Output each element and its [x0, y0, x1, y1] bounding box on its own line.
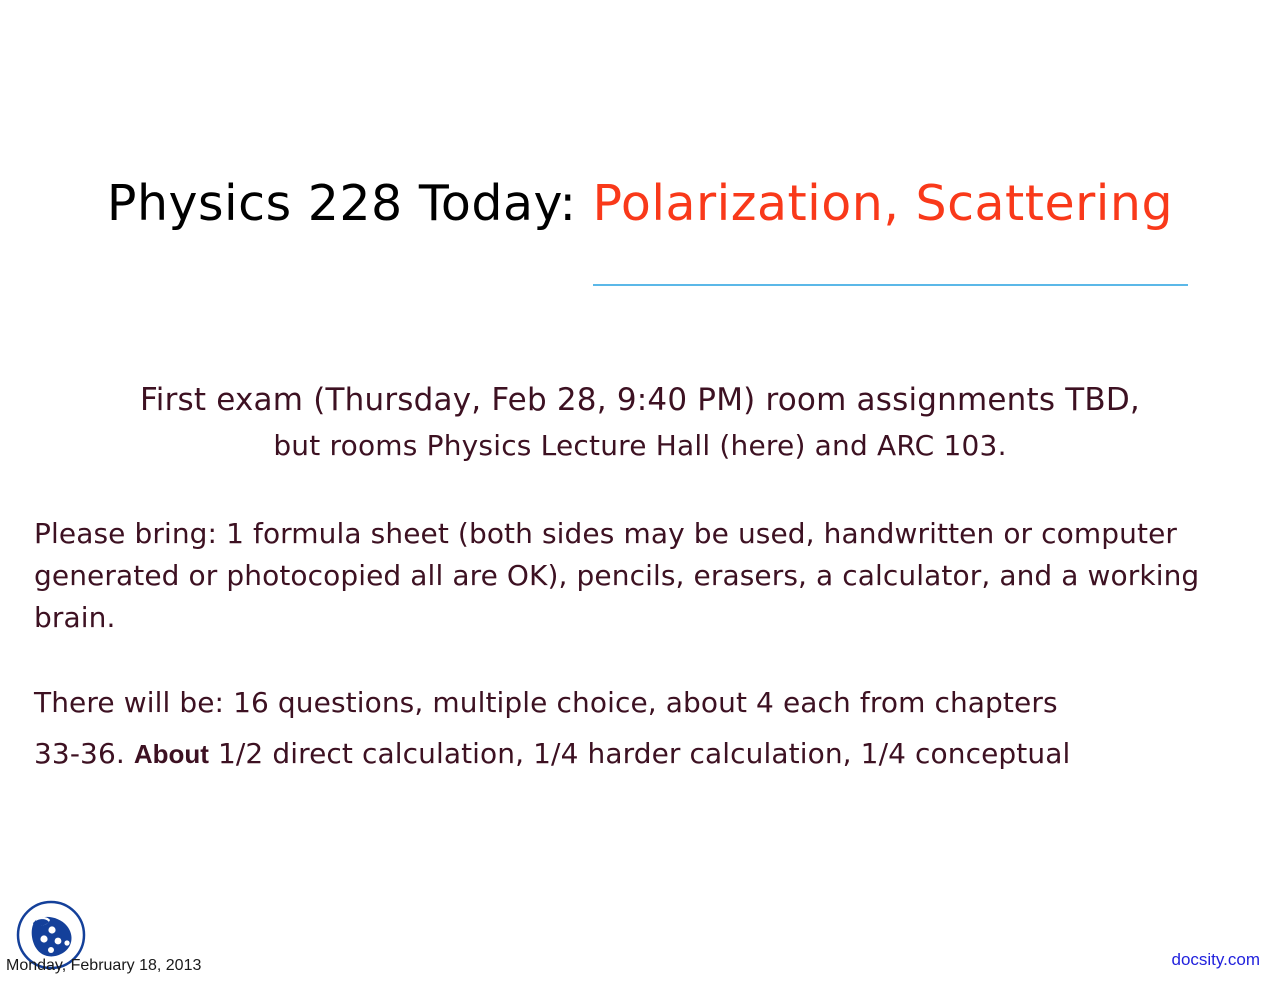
- footer-date: Monday, February 18, 2013: [6, 957, 201, 975]
- title-accent-text: Polarization, Scattering: [593, 175, 1174, 232]
- questions-line-2-suffix: 1/2 direct calculation, 1/4 harder calcu…: [209, 737, 1070, 770]
- title-main-text: Physics 228 Today:: [107, 175, 593, 232]
- questions-line-2: 33-36. About 1/2 direct calculation, 1/4…: [34, 733, 1234, 775]
- questions-emphasis-about: About: [134, 739, 209, 769]
- exam-info-line-2: but rooms Physics Lecture Hall (here) an…: [0, 426, 1280, 466]
- footer-brand-link[interactable]: docsity.com: [1172, 950, 1261, 970]
- questions-line-1: There will be: 16 questions, multiple ch…: [34, 686, 1058, 719]
- slide-canvas: Physics 228 Today: Polarization, Scatter…: [0, 0, 1280, 985]
- slide-title: Physics 228 Today: Polarization, Scatter…: [0, 178, 1280, 229]
- questions-line-2-prefix: 33-36.: [34, 737, 134, 770]
- title-divider-rule: [593, 284, 1188, 286]
- bring-paragraph: Please bring: 1 formula sheet (both side…: [34, 513, 1234, 639]
- exam-info-line-1: First exam (Thursday, Feb 28, 9:40 PM) r…: [0, 380, 1280, 420]
- questions-paragraph: There will be: 16 questions, multiple ch…: [34, 682, 1234, 775]
